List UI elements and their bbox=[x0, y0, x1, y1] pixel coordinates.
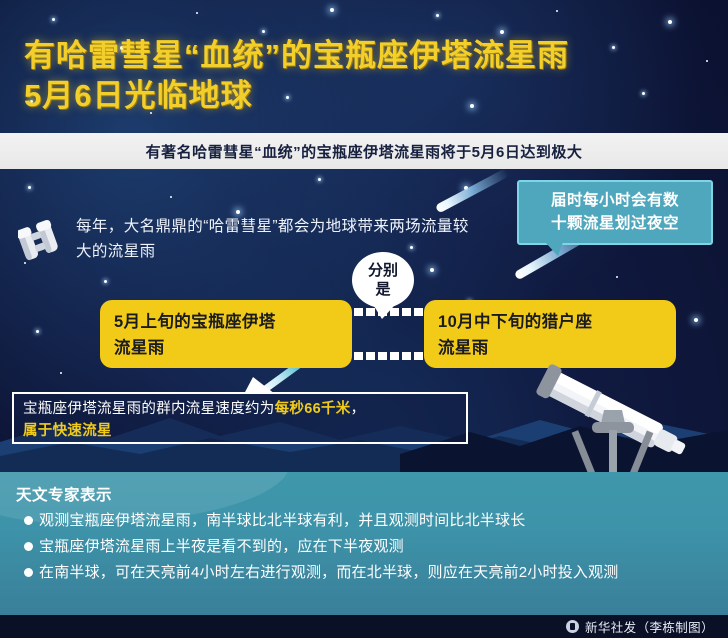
filmstrip-perforation bbox=[414, 308, 423, 316]
expert-bullet-2: 宝瓶座伊塔流星雨上半夜是看不到的，应在下半夜观测 bbox=[39, 535, 404, 559]
shower-box-may-line-2: 流星雨 bbox=[114, 335, 338, 361]
lead-paragraph: 每年，大名鼎鼎的“哈雷彗星”都会为地球带来两场流量较大的流星雨 bbox=[76, 214, 476, 264]
star-icon bbox=[330, 8, 334, 12]
filmstrip-perforation bbox=[354, 308, 363, 316]
star-icon bbox=[196, 12, 198, 14]
list-item: 在南半球，可在天亮前4小时左右进行观测，而在北半球，则应在天亮前2小时投入观测 bbox=[24, 561, 714, 585]
title-line-2: 5月6日光临地球 bbox=[24, 76, 724, 116]
star-icon bbox=[52, 18, 55, 21]
list-item: 观测宝瓶座伊塔流星雨，南半球比北半球有利，并且观测时间比北半球长 bbox=[24, 509, 714, 533]
page-title: 有哈雷彗星“血统”的宝瓶座伊塔流星雨 5月6日光临地球 bbox=[24, 36, 724, 116]
footer-credit-bar: 新华社发（李栋制图） bbox=[0, 615, 728, 638]
telescope-icon bbox=[530, 330, 696, 480]
callout-white-pre: 宝瓶座伊塔流星雨的群内流星速度约为 bbox=[23, 401, 275, 417]
expert-panel-heading: 天文专家表示 bbox=[16, 483, 112, 505]
callout-white-highlight: 每秒66千米 bbox=[275, 401, 351, 417]
callout-white-line-1: 宝瓶座伊塔流星雨的群内流星速度约为每秒66千米， bbox=[23, 398, 457, 420]
list-item: 宝瓶座伊塔流星雨上半夜是看不到的，应在下半夜观测 bbox=[24, 535, 714, 559]
star-icon bbox=[430, 268, 434, 272]
callout-teal-line-1: 届时每小时会有数 bbox=[527, 189, 703, 212]
shower-box-may-line-1: 5月上旬的宝瓶座伊塔 bbox=[114, 309, 338, 335]
infographic-poster: 有哈雷彗星“血统”的宝瓶座伊塔流星雨 5月6日光临地球 有著名哈雷彗星“血统”的… bbox=[0, 0, 728, 638]
filmstrip-perforation bbox=[414, 352, 423, 360]
star-icon bbox=[60, 372, 62, 374]
callout-meteor-speed: 宝瓶座伊塔流星雨的群内流星速度约为每秒66千米， 属于快速流星 bbox=[12, 392, 468, 444]
callout-hourly-rate: 届时每小时会有数 十颗流星划过夜空 bbox=[517, 180, 713, 245]
bullet-dot-icon bbox=[24, 542, 33, 551]
xinhua-logo-icon bbox=[566, 620, 579, 633]
bullet-dot-icon bbox=[24, 568, 33, 577]
filmstrip-perforation bbox=[390, 308, 399, 316]
star-icon bbox=[616, 276, 618, 278]
filmstrip-perforation bbox=[402, 352, 411, 360]
filmstrip-perforation bbox=[366, 308, 375, 316]
filmstrip-perforation bbox=[378, 308, 387, 316]
star-icon bbox=[436, 14, 439, 17]
footer-credit-text: 新华社发（李栋制图） bbox=[585, 617, 714, 636]
callout-white-line-2: 属于快速流星 bbox=[23, 420, 457, 442]
bubble-line-1: 分别 bbox=[368, 261, 398, 280]
binoculars-icon bbox=[18, 218, 70, 262]
callout-teal-line-2: 十颗流星划过夜空 bbox=[527, 212, 703, 235]
callout-white-post: ， bbox=[351, 401, 366, 417]
star-icon bbox=[170, 196, 172, 198]
title-line-1: 有哈雷彗星“血统”的宝瓶座伊塔流星雨 bbox=[24, 38, 569, 73]
star-icon bbox=[694, 318, 698, 322]
bullet-dot-icon bbox=[24, 516, 33, 525]
star-icon bbox=[556, 10, 558, 12]
filmstrip-perforation bbox=[354, 352, 363, 360]
filmstrip-perforation bbox=[390, 352, 399, 360]
filmstrip-perforation bbox=[402, 308, 411, 316]
star-icon bbox=[262, 30, 265, 33]
star-icon bbox=[24, 262, 26, 264]
expert-bullet-3: 在南半球，可在天亮前4小时左右进行观测，而在北半球，则应在天亮前2小时投入观测 bbox=[39, 561, 619, 585]
subtitle-text: 有著名哈雷彗星“血统”的宝瓶座伊塔流星雨将于5月6日达到极大 bbox=[146, 141, 583, 162]
expert-bullet-1: 观测宝瓶座伊塔流星雨，南半球比北半球有利，并且观测时间比北半球长 bbox=[39, 509, 525, 533]
bubble-line-2: 是 bbox=[375, 280, 390, 299]
star-icon bbox=[318, 178, 321, 181]
filmstrip-perforation bbox=[378, 352, 387, 360]
bubble-respectively: 分别 是 bbox=[352, 252, 414, 308]
shower-box-may: 5月上旬的宝瓶座伊塔 流星雨 bbox=[100, 300, 352, 368]
star-icon bbox=[668, 20, 672, 24]
star-icon bbox=[28, 186, 31, 189]
expert-bullet-list: 观测宝瓶座伊塔流星雨，南半球比北半球有利，并且观测时间比北半球长 宝瓶座伊塔流星… bbox=[24, 509, 714, 587]
expert-panel: 天文专家表示 观测宝瓶座伊塔流星雨，南半球比北半球有利，并且观测时间比北半球长 … bbox=[0, 472, 728, 615]
star-icon bbox=[500, 30, 504, 34]
filmstrip-perforation bbox=[366, 352, 375, 360]
subtitle-bar: 有著名哈雷彗星“血统”的宝瓶座伊塔流星雨将于5月6日达到极大 bbox=[0, 133, 728, 169]
star-icon bbox=[104, 280, 107, 283]
star-icon bbox=[36, 330, 39, 333]
filmstrip-connector bbox=[352, 304, 424, 364]
